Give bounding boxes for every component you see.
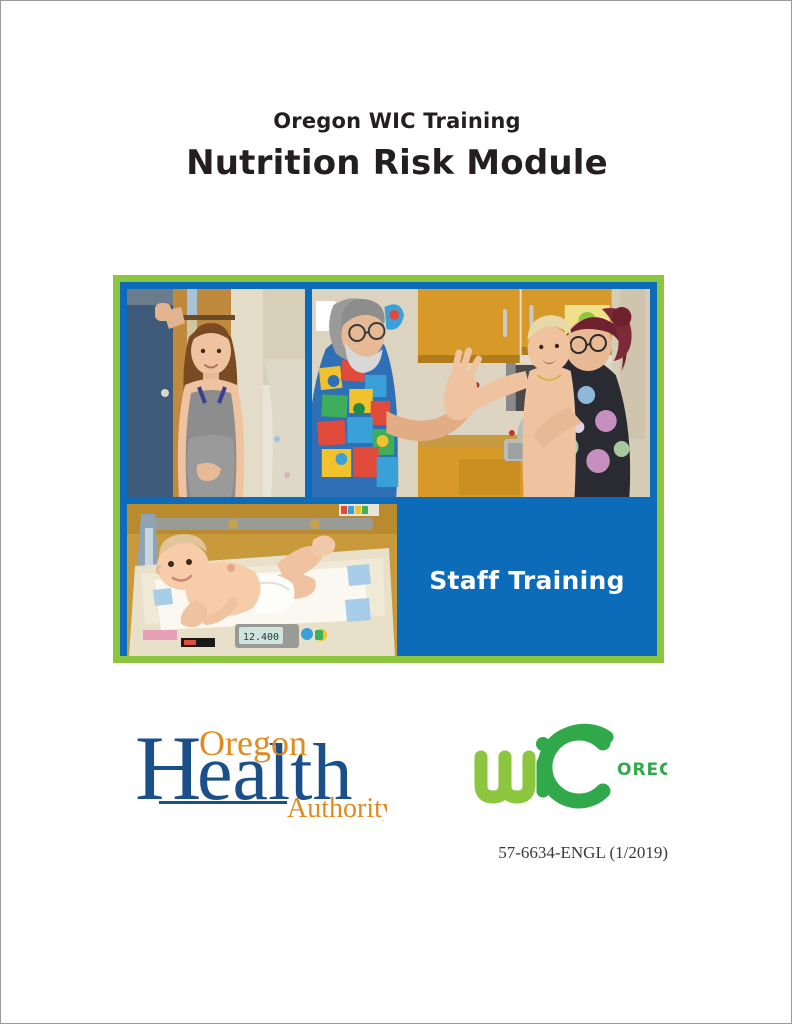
photo-collage: 12.400 Staff Training	[113, 275, 664, 663]
svg-text:Authority: Authority	[287, 793, 387, 821]
photo-collage-inner-frame: 12.400 Staff Training	[120, 282, 657, 656]
document-subtitle: Oregon WIC Training	[1, 109, 792, 134]
document-page: Oregon WIC Training Nutrition Risk Modul…	[0, 0, 792, 1024]
svg-text:OREGON: OREGON	[617, 760, 667, 780]
document-number: 57-6634-ENGL (1/2019)	[1, 843, 792, 863]
page-title-block: Oregon WIC Training Nutrition Risk Modul…	[1, 109, 792, 185]
photo-clinic-high-five	[312, 289, 650, 497]
photo-clinic-high-five-image	[312, 289, 650, 497]
oregon-health-authority-logo-mark: H ealth Oregon Authority	[137, 715, 387, 821]
staff-training-label: Staff Training	[429, 566, 625, 595]
photo-collage-bottom-row: 12.400 Staff Training	[127, 504, 650, 656]
page-title: Nutrition Risk Module	[1, 142, 792, 185]
staff-training-panel: Staff Training	[404, 504, 650, 656]
wic-oregon-logo-mark: OREGON	[467, 713, 667, 813]
wic-oregon-logo: OREGON	[467, 713, 667, 813]
oregon-health-authority-logo: H ealth Oregon Authority	[137, 715, 387, 821]
photo-infant-weighing: 12.400	[127, 504, 397, 656]
photo-height-measurement-image	[127, 289, 305, 497]
svg-text:Oregon: Oregon	[199, 723, 307, 763]
logo-row: H ealth Oregon Authority	[1, 707, 792, 827]
photo-infant-weighing-image: 12.400	[127, 504, 397, 656]
svg-text:12.400: 12.400	[243, 632, 279, 643]
photo-collage-top-row	[127, 289, 650, 497]
photo-height-measurement	[127, 289, 305, 497]
